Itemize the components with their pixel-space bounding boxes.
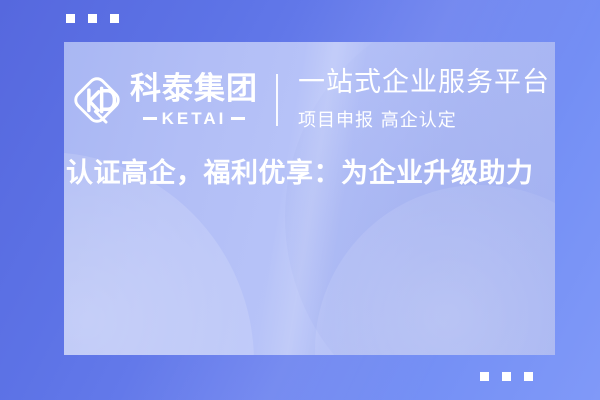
brand-wordmark: 科泰集团 KETAI (130, 74, 258, 127)
decor-square (88, 14, 97, 23)
decor-square (480, 372, 489, 381)
promo-banner: 科泰集团 KETAI 一站式企业服务平台 项目申报 高企认定 认证高企，福利优享… (0, 0, 600, 400)
latin-rule-left (143, 117, 157, 120)
promo-card: 科泰集团 KETAI 一站式企业服务平台 项目申报 高企认定 认证高企，福利优享… (64, 42, 555, 355)
brand-name-cn: 科泰集团 (130, 74, 258, 105)
decor-square (524, 372, 533, 381)
brand-name-latin: KETAI (162, 110, 227, 127)
card-decor-blob-bottom (315, 185, 555, 355)
brand-latin-row: KETAI (143, 110, 246, 127)
tagline-primary: 一站式企业服务平台 (298, 68, 550, 98)
decor-square (66, 14, 75, 23)
brand-logo: 科泰集团 KETAI (68, 71, 258, 129)
brand-header: 科泰集团 KETAI 一站式企业服务平台 项目申报 高企认定 (64, 48, 555, 152)
brand-divider (276, 74, 278, 126)
decor-square (110, 14, 119, 23)
decor-square (502, 372, 511, 381)
tagline-secondary: 项目申报 高企认定 (298, 106, 550, 132)
decor-dots-top-left (66, 14, 119, 23)
headline-text: 认证高企，福利优享：为企业升级助力 (66, 152, 553, 196)
latin-rule-right (231, 117, 245, 120)
ketai-logo-icon (68, 71, 126, 129)
tagline-block: 一站式企业服务平台 项目申报 高企认定 (298, 68, 550, 131)
decor-dots-bottom-right (480, 372, 533, 381)
